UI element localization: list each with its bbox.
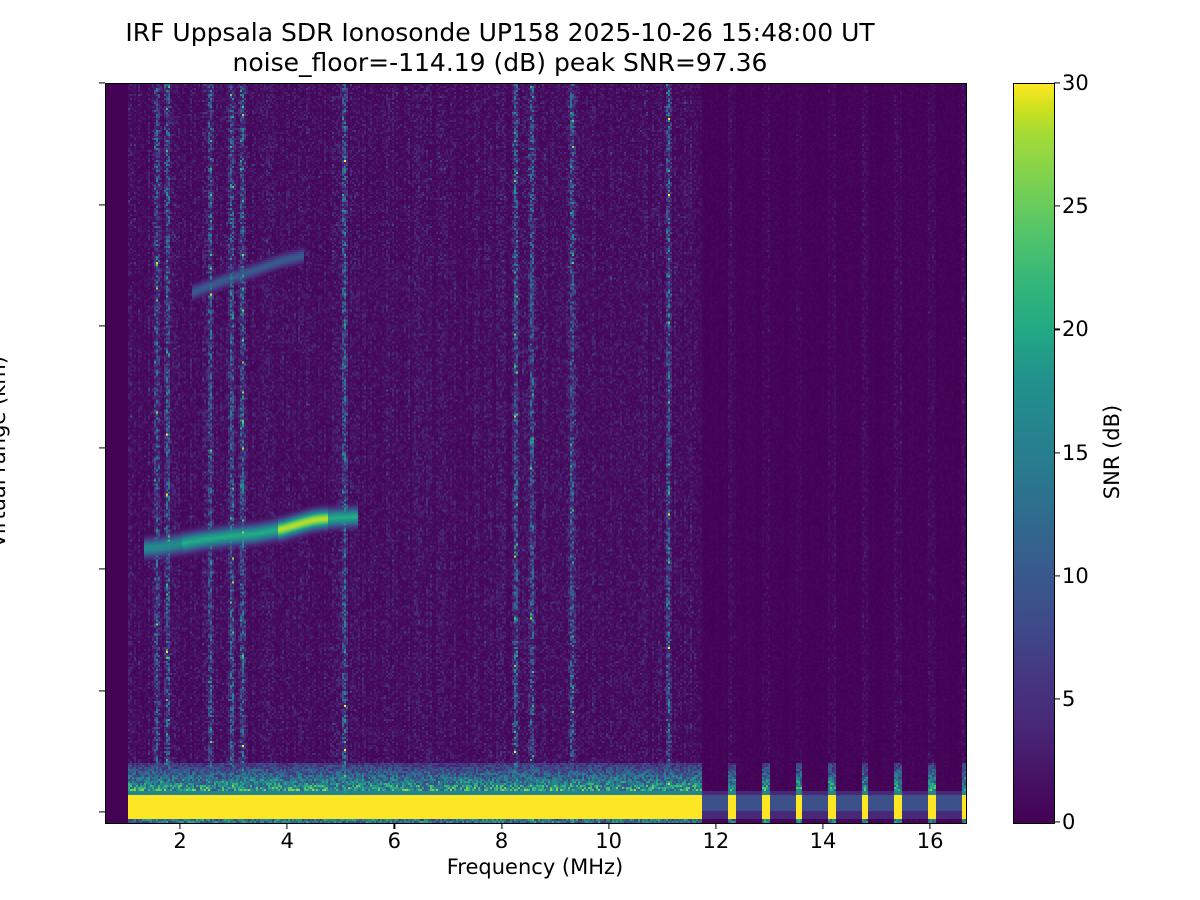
y-tick-mark [99, 812, 105, 813]
colorbar-label: SNR (dB) [1100, 405, 1124, 499]
figure-title-line2: noise_floor=-114.19 (dB) peak SNR=97.36 [0, 48, 1000, 78]
colorbar-tick-mark [1054, 206, 1060, 207]
ionogram-figure: IRF Uppsala SDR Ionosonde UP158 2025-10-… [0, 0, 1200, 900]
x-tick-mark [501, 823, 502, 829]
x-tick-label: 2 [173, 829, 186, 853]
colorbar-tick-label: 0 [1062, 810, 1075, 834]
figure-title-line1: IRF Uppsala SDR Ionosonde UP158 2025-10-… [125, 18, 874, 47]
x-tick-label: 14 [810, 829, 837, 853]
colorbar-tick-label: 15 [1062, 441, 1089, 465]
colorbar-tick-mark [1054, 329, 1060, 330]
y-axis-label: Virtual range (km) [0, 356, 10, 548]
colorbar-tick-mark [1054, 452, 1060, 453]
colorbar-tick-mark [1054, 575, 1060, 576]
y-tick-mark [99, 690, 105, 691]
y-tick-mark [99, 447, 105, 448]
figure-title: IRF Uppsala SDR Ionosonde UP158 2025-10-… [0, 18, 1000, 78]
x-tick-label: 4 [280, 829, 293, 853]
y-tick-mark [99, 569, 105, 570]
colorbar-tick-mark [1054, 82, 1060, 83]
colorbar-tick-label: 5 [1062, 687, 1075, 711]
x-tick-label: 10 [595, 829, 622, 853]
x-tick-label: 12 [702, 829, 729, 853]
x-tick-label: 6 [388, 829, 401, 853]
colorbar [1013, 83, 1055, 824]
y-tick-mark [99, 325, 105, 326]
x-tick-label: 16 [917, 829, 944, 853]
colorbar-tick-label: 30 [1062, 71, 1089, 95]
x-axis-label: Frequency (MHz) [447, 855, 623, 879]
x-tick-mark [608, 823, 609, 829]
colorbar-tick-label: 10 [1062, 564, 1089, 588]
x-tick-mark [715, 823, 716, 829]
x-tick-mark [822, 823, 823, 829]
x-tick-mark [179, 823, 180, 829]
ionogram-heatmap [106, 84, 966, 823]
colorbar-tick-mark [1054, 698, 1060, 699]
y-tick-mark [99, 82, 105, 83]
ionogram-plot-area [105, 83, 967, 824]
x-tick-mark [287, 823, 288, 829]
colorbar-tick-label: 25 [1062, 194, 1089, 218]
x-tick-mark [394, 823, 395, 829]
colorbar-tick-label: 20 [1062, 317, 1089, 341]
x-tick-mark [930, 823, 931, 829]
y-tick-mark [99, 204, 105, 205]
colorbar-tick-mark [1054, 821, 1060, 822]
x-tick-label: 8 [495, 829, 508, 853]
